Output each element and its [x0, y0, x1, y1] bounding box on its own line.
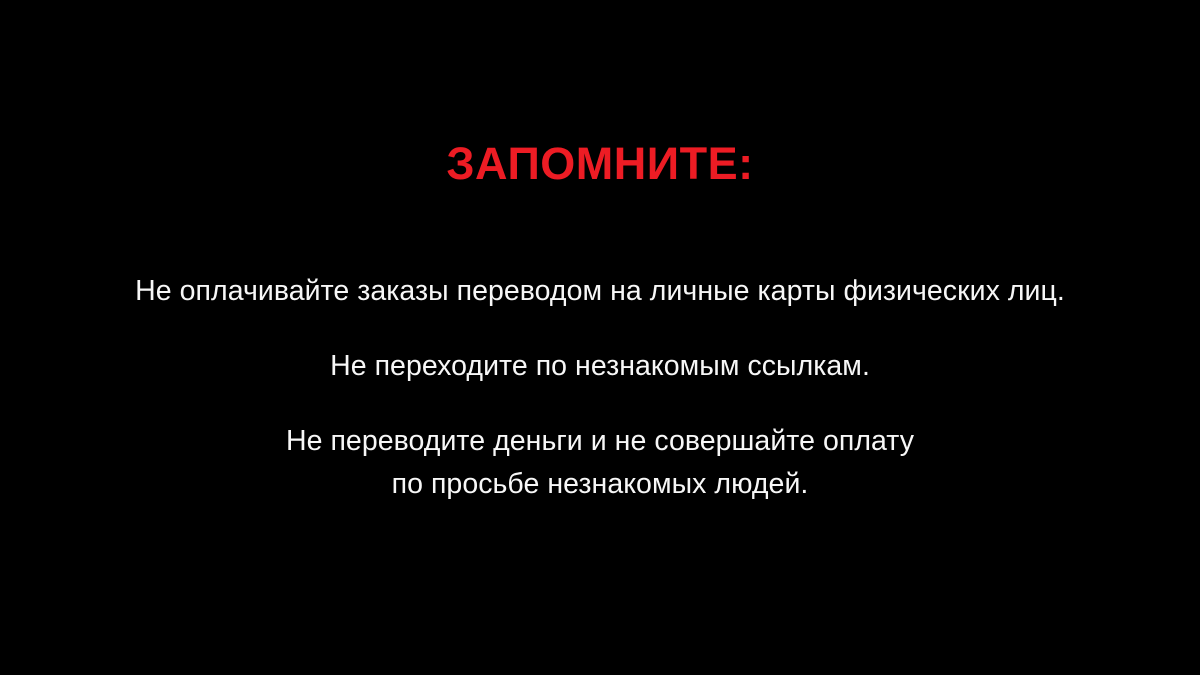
page-title: ЗАПОМНИТЕ: [0, 140, 1200, 187]
safety-rule-item-2: Не переходите по незнакомым ссылкам. [0, 345, 1200, 388]
safety-rule-item-1: Не оплачивайте заказы переводом на личны… [0, 270, 1200, 313]
safety-rules-list: Не оплачивайте заказы переводом на личны… [0, 270, 1200, 506]
safety-rule-item-3: Не переводите деньги и не совершайте опл… [0, 420, 1200, 506]
safety-notice-slide: ЗАПОМНИТЕ: Не оплачивайте заказы перевод… [0, 0, 1200, 675]
